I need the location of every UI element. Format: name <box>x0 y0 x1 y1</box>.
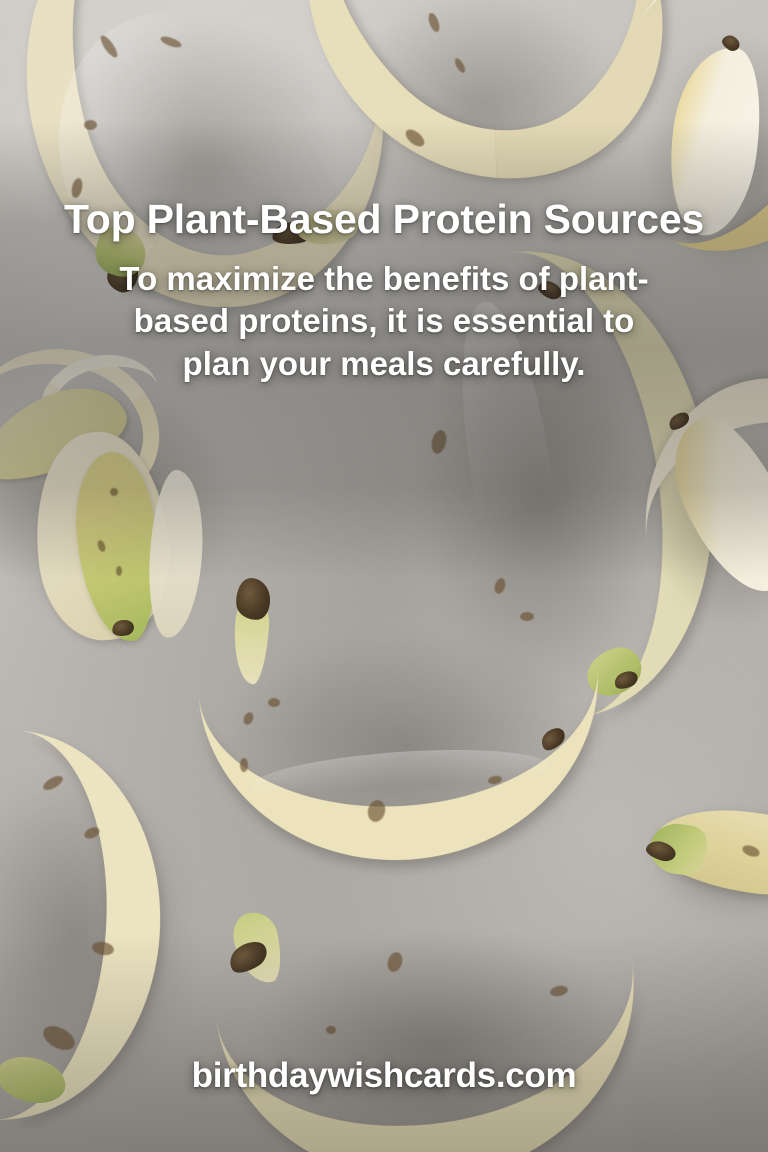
banana-spot <box>326 1026 336 1034</box>
page-title: Top Plant-Based Protein Sources <box>56 196 712 244</box>
subtitle-text: To maximize the benefits of plant-based … <box>104 258 664 387</box>
pinterest-card: Top Plant-Based Protein Sources To maxim… <box>0 0 768 1152</box>
website-url: birthdaywishcards.com <box>192 1056 577 1095</box>
banana-spot <box>110 488 118 496</box>
banana-spot <box>84 120 97 130</box>
banana-spot <box>240 758 248 772</box>
banana-spot <box>268 698 280 707</box>
footer: birthdaywishcards.com <box>0 1056 768 1096</box>
text-block: Top Plant-Based Protein Sources To maxim… <box>0 196 768 386</box>
banana-spot <box>116 566 122 576</box>
